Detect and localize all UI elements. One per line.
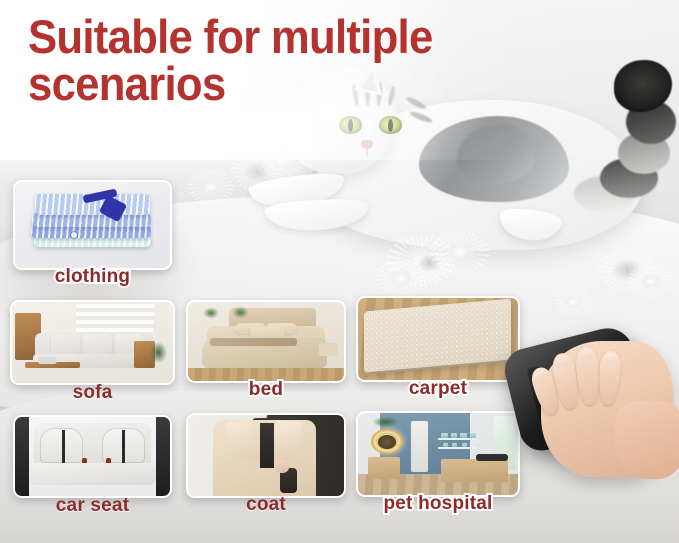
thumbnail-caption: bed	[186, 379, 346, 401]
thumbnail-frame	[356, 296, 520, 382]
sofa-artwork	[12, 302, 173, 383]
carpet-artwork	[358, 298, 518, 380]
thumbnail-frame	[10, 300, 175, 385]
wrist	[615, 401, 679, 479]
thumbnail-caption: carpet	[356, 378, 520, 400]
thumbnail-caption: pet hospital	[356, 493, 520, 515]
thumbnail-carpet[interactable]: carpet	[356, 296, 520, 382]
thumbnail-bed[interactable]: bed	[186, 300, 346, 383]
pet-hospital-artwork	[358, 413, 518, 495]
thumbnail-coat[interactable]: coat	[186, 413, 346, 498]
thumbnail-caption: coat	[186, 494, 346, 516]
clothing-artwork	[15, 182, 170, 268]
headline-banner-fade	[0, 112, 312, 182]
thumbnail-caption: sofa	[10, 382, 175, 404]
promo-image: Suitable for multiple scenarios clothing	[0, 0, 679, 543]
coat-artwork	[188, 415, 344, 496]
bed-artwork	[188, 302, 344, 381]
thumbnail-frame	[13, 180, 172, 270]
product-pet-hair-remover	[497, 323, 679, 483]
thumbnail-pet-hospital[interactable]: pet hospital	[356, 411, 520, 497]
page-title: Suitable for multiple scenarios	[28, 14, 605, 107]
car-seat-artwork	[15, 417, 170, 496]
thumbnail-frame	[13, 415, 172, 498]
thumbnail-car-seat[interactable]: car seat	[13, 415, 172, 498]
thumbnail-clothing[interactable]: clothing	[13, 180, 172, 270]
thumbnail-caption: car seat	[13, 495, 172, 517]
thumbnail-sofa[interactable]: sofa	[10, 300, 175, 385]
thumbnail-frame	[186, 300, 346, 383]
clinic-logo-icon	[371, 429, 403, 454]
thumbnail-frame	[356, 411, 520, 497]
thumbnail-frame	[186, 413, 346, 498]
thumbnail-caption: clothing	[13, 266, 172, 288]
